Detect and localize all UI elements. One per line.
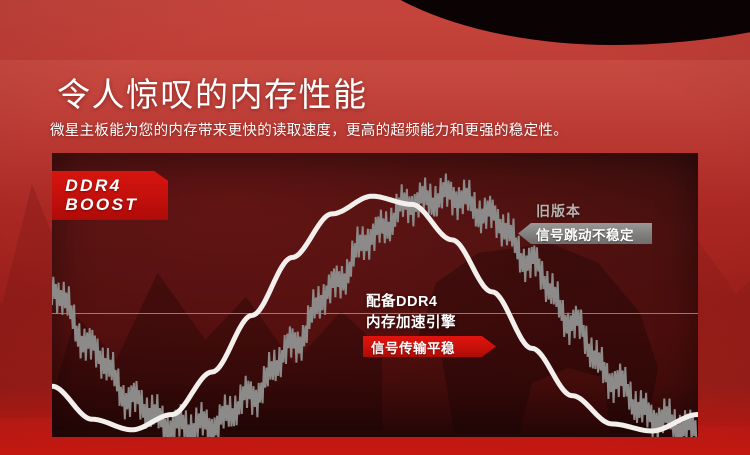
- new-version-banner-label: 信号传输平稳: [371, 337, 455, 357]
- page-subtitle: 微星主板能为您的内存带来更快的读取速度，更高的超频能力和更强的稳定性。: [50, 120, 568, 142]
- signal-chart-panel: DDR4 BOOST 旧版本 信号跳动不稳定 配备DDR4 内存加速引擎 信号传…: [52, 153, 698, 437]
- annotation-new-version: 配备DDR4 内存加速引擎 信号传输平稳: [363, 292, 496, 357]
- old-version-banner-label: 信号跳动不稳定: [536, 224, 634, 244]
- ddr4-boost-badge: DDR4 BOOST: [52, 171, 168, 220]
- new-version-banner: 信号传输平稳: [363, 336, 496, 357]
- new-version-caption-line1: 配备DDR4: [366, 292, 496, 313]
- new-version-caption-line2: 内存加速引擎: [366, 313, 496, 334]
- old-version-caption: 旧版本: [536, 202, 652, 220]
- hero-banner: 令人惊叹的内存性能 微星主板能为您的内存带来更快的读取速度，更高的超频能力和更强…: [0, 0, 750, 455]
- ddr4-boost-badge-text: DDR4 BOOST: [65, 177, 138, 214]
- ddr4-boost-line1: DDR4: [65, 177, 138, 196]
- old-version-banner: 信号跳动不稳定: [518, 223, 652, 244]
- annotation-old-version: 旧版本 信号跳动不稳定: [518, 202, 652, 244]
- page-title: 令人惊叹的内存性能: [57, 75, 368, 115]
- ddr4-boost-line2: BOOST: [65, 196, 138, 215]
